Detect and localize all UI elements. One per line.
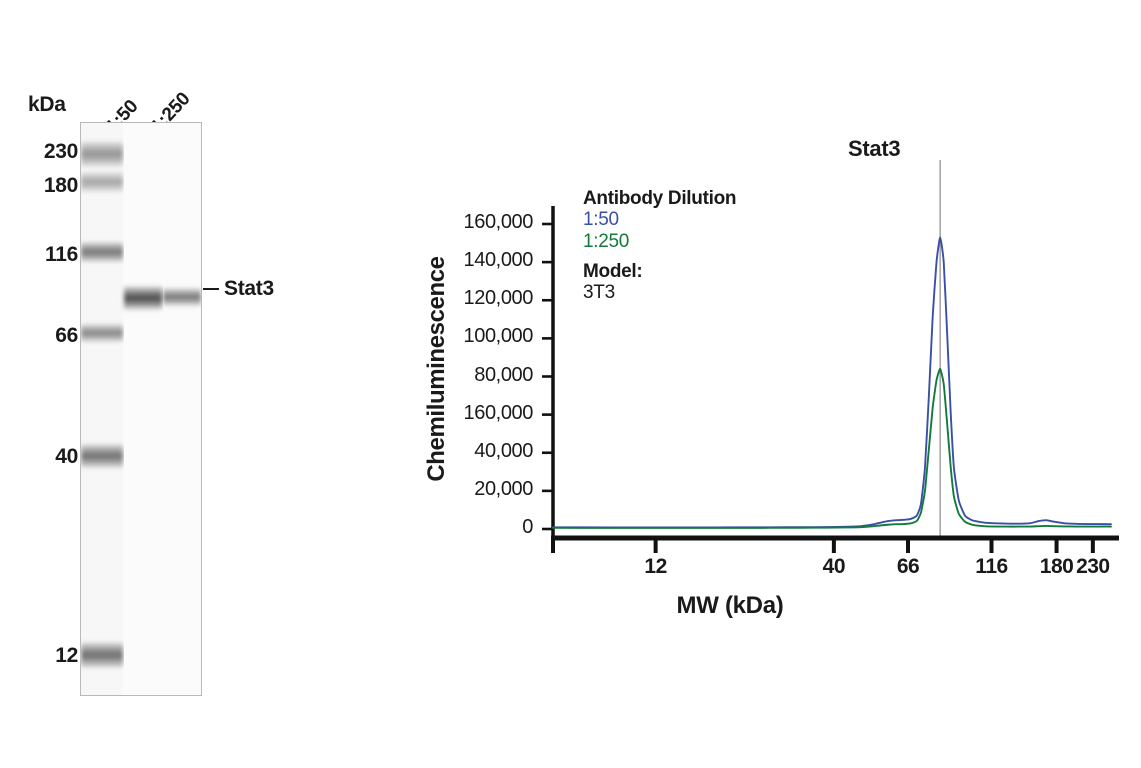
marker-label-40: 40 <box>32 445 78 469</box>
blot-lane-1-250 <box>163 123 201 695</box>
blot-lane-ladder <box>81 123 123 695</box>
stat3-band-pointer-icon <box>203 288 219 290</box>
ladder-band-3 <box>81 323 123 343</box>
ladder-band-1 <box>81 171 123 193</box>
western-blot-figure: kDa 230180116664012 1:501:250 Stat3 <box>0 0 340 768</box>
ladder-band-0 <box>81 140 123 168</box>
stat3-band-label: Stat3 <box>224 277 274 301</box>
marker-label-230: 230 <box>32 140 78 164</box>
marker-label-66: 66 <box>32 324 78 348</box>
blot-lane-1-50 <box>124 123 162 695</box>
chemiluminescence-chart: Chemiluminescence MW (kDa) 020,00040,000… <box>380 0 1141 768</box>
blot-membrane-panel <box>80 122 202 696</box>
kda-header-label: kDa <box>28 93 66 117</box>
stat3-band-1 <box>163 287 201 307</box>
ladder-band-4 <box>81 443 123 469</box>
ladder-band-2 <box>81 241 123 263</box>
trace-1-50 <box>553 237 1111 527</box>
trace-1-250 <box>553 369 1111 528</box>
plot-canvas <box>380 0 1141 768</box>
stat3-band-0 <box>124 285 162 311</box>
marker-label-12: 12 <box>32 644 78 668</box>
marker-label-116: 116 <box>32 243 78 267</box>
marker-label-180: 180 <box>32 174 78 198</box>
ladder-band-5 <box>81 641 123 669</box>
